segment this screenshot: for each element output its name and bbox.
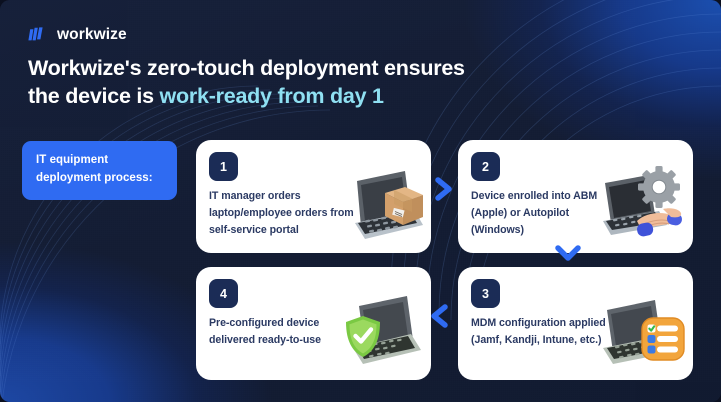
step-number-badge: 3	[471, 279, 500, 308]
step-number-badge: 2	[471, 152, 500, 181]
laptop-with-shield-check-icon	[331, 292, 427, 378]
brand-name: workwize	[57, 26, 127, 44]
brand-logo[interactable]: workwize	[28, 26, 127, 44]
laptop-with-checklist-icon	[593, 292, 689, 378]
step-card-2[interactable]: 2 Device enrolled into ABM (Apple) or Au…	[458, 140, 693, 253]
process-label-badge: IT equipment deployment process:	[22, 141, 177, 200]
workwize-logo-mark-icon	[28, 27, 50, 43]
laptop-with-package-icon	[331, 165, 427, 251]
page-title: Workwize's zero-touch deployment ensures…	[28, 55, 588, 111]
step-card-4[interactable]: 4 Pre-configured device delivered ready-…	[196, 267, 431, 380]
step-number-badge: 4	[209, 279, 238, 308]
infographic-canvas: workwize Workwize's zero-touch deploymen…	[0, 0, 721, 402]
process-label-line-2: deployment process:	[36, 172, 153, 184]
step-card-3[interactable]: 3 MDM configuration applied (Jamf, Kandj…	[458, 267, 693, 380]
headline-line-2-plain: the device is	[28, 84, 160, 108]
headline-line-2-accent: work-ready from day 1	[160, 84, 384, 108]
laptop-with-gear-and-hands-icon	[593, 165, 689, 251]
process-label-line-1: IT equipment	[36, 154, 108, 166]
step-card-1[interactable]: 1 IT manager orders laptop/employee orde…	[196, 140, 431, 253]
step-number-badge: 1	[209, 152, 238, 181]
headline-line-1: Workwize's zero-touch deployment ensures	[28, 56, 465, 80]
